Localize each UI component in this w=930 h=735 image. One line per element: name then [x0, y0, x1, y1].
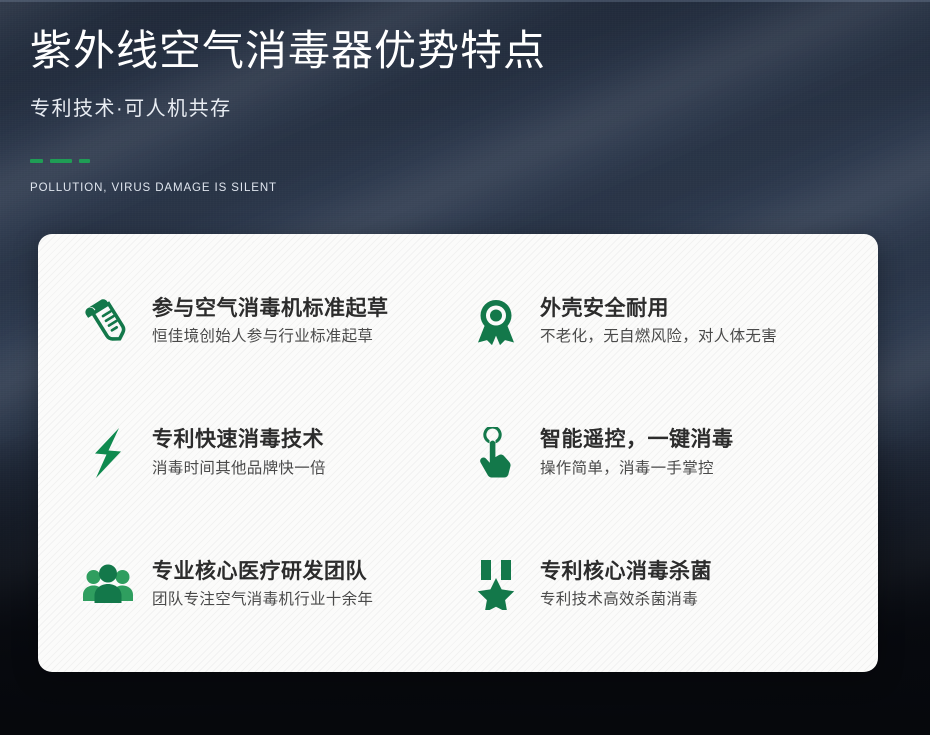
top-divider-line [0, 0, 930, 2]
lightning-bolt-icon [82, 425, 134, 481]
page-title: 紫外线空气消毒器优势特点 [30, 26, 730, 76]
feature-desc: 恒佳境创始人参与行业标准起草 [152, 327, 389, 347]
feature-desc: 消毒时间其他品牌快一倍 [152, 459, 326, 479]
feature-title: 专业核心医疗研发团队 [152, 559, 373, 585]
feature-item: 参与空气消毒机标准起草 恒佳境创始人参与行业标准起草 [82, 256, 460, 387]
feature-desc: 团队专注空气消毒机行业十余年 [152, 590, 373, 610]
accent-dash-1 [30, 159, 43, 163]
feature-title: 专利快速消毒技术 [152, 427, 326, 453]
accent-dash-3 [79, 159, 90, 163]
feature-item: 智能遥控，一键消毒 操作简单，消毒一手掌控 [470, 387, 848, 518]
features-grid: 参与空气消毒机标准起草 恒佳境创始人参与行业标准起草 [38, 234, 878, 672]
award-rosette-icon [470, 294, 522, 350]
feature-desc: 专利技术高效杀菌消毒 [540, 590, 712, 610]
accent-dashes [30, 159, 730, 164]
tap-hand-icon [470, 425, 522, 481]
feature-title: 智能遥控，一键消毒 [540, 427, 734, 453]
feature-desc: 不老化，无自燃风险，对人体无害 [540, 327, 777, 347]
accent-dash-2 [50, 159, 72, 163]
header-block: 紫外线空气消毒器优势特点 专利技术·可人机共存 POLLUTION, VIRUS… [30, 26, 730, 194]
feature-texts: 参与空气消毒机标准起草 恒佳境创始人参与行业标准起草 [152, 296, 389, 347]
feature-texts: 专利快速消毒技术 消毒时间其他品牌快一倍 [152, 427, 326, 478]
feature-title: 专利核心消毒杀菌 [540, 559, 712, 585]
feature-texts: 专利核心消毒杀菌 专利技术高效杀菌消毒 [540, 559, 712, 610]
feature-title: 外壳安全耐用 [540, 296, 777, 322]
promo-banner-page: 紫外线空气消毒器优势特点 专利技术·可人机共存 POLLUTION, VIRUS… [0, 0, 930, 735]
feature-texts: 智能遥控，一键消毒 操作简单，消毒一手掌控 [540, 427, 734, 478]
star-medal-icon [470, 556, 522, 612]
feature-texts: 外壳安全耐用 不老化，无自燃风险，对人体无害 [540, 296, 777, 347]
feature-item: 专利核心消毒杀菌 专利技术高效杀菌消毒 [470, 519, 848, 650]
team-group-icon [82, 556, 134, 612]
english-tagline: POLLUTION, VIRUS DAMAGE IS SILENT [30, 182, 730, 194]
certificate-pen-icon [82, 294, 134, 350]
feature-title: 参与空气消毒机标准起草 [152, 296, 389, 322]
feature-desc: 操作简单，消毒一手掌控 [540, 459, 734, 479]
page-subtitle: 专利技术·可人机共存 [30, 92, 730, 121]
feature-item: 专业核心医疗研发团队 团队专注空气消毒机行业十余年 [82, 519, 460, 650]
feature-item: 专利快速消毒技术 消毒时间其他品牌快一倍 [82, 387, 460, 518]
features-card: 参与空气消毒机标准起草 恒佳境创始人参与行业标准起草 [38, 234, 878, 672]
feature-texts: 专业核心医疗研发团队 团队专注空气消毒机行业十余年 [152, 559, 373, 610]
feature-item: 外壳安全耐用 不老化，无自燃风险，对人体无害 [470, 256, 848, 387]
